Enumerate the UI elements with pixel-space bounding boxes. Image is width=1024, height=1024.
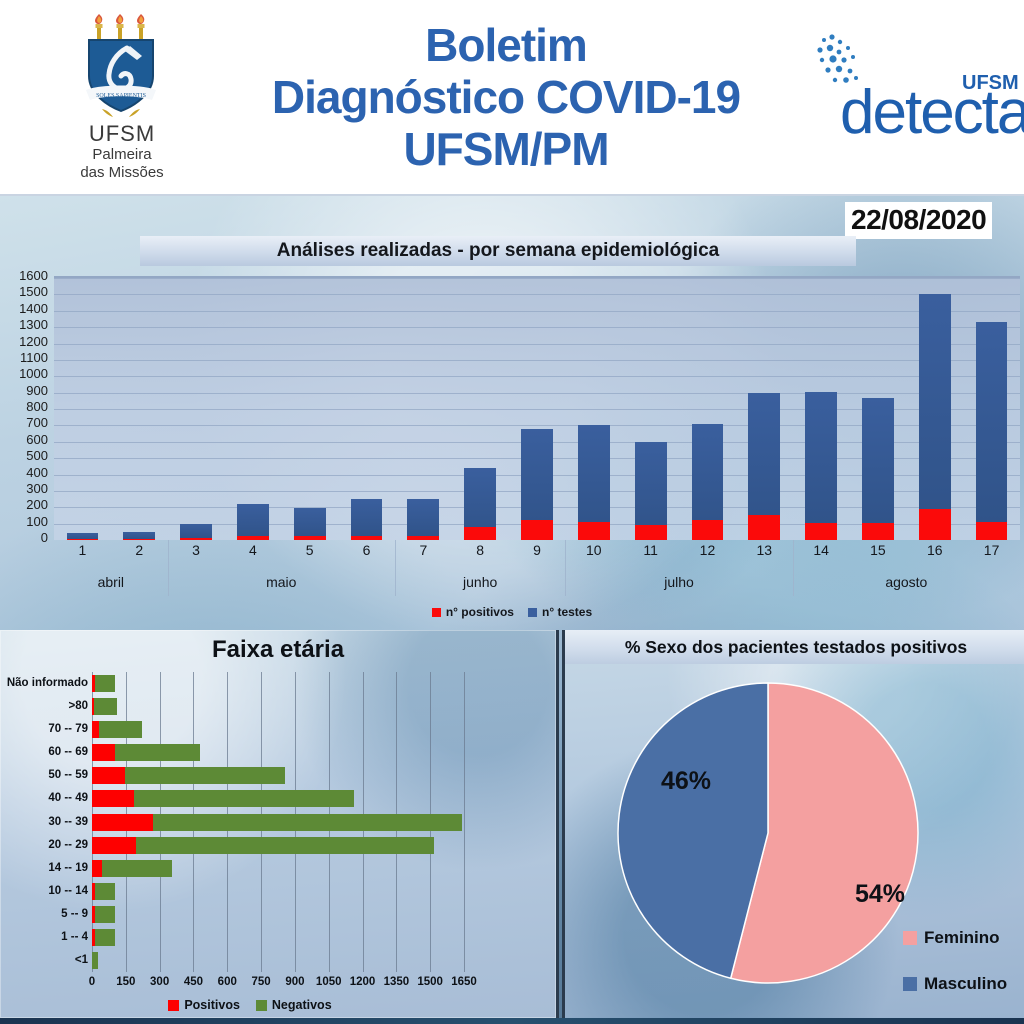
bar-segment-testes <box>805 392 837 540</box>
x-axis-tick: 5 <box>292 542 328 558</box>
y-axis-tick: 1200 <box>2 334 48 349</box>
bar-group <box>294 508 326 540</box>
weekly-chart-x-axis: 1234567891011121314151617 <box>54 542 1020 566</box>
gridline <box>54 393 1020 394</box>
bar-segment-positivos <box>976 522 1008 540</box>
weekly-chart-month-axis: abrilmaiojunhojulhoagosto <box>54 574 1020 596</box>
bar-group <box>464 468 496 540</box>
age-bar-negativos <box>125 767 285 784</box>
weekly-analyses-chart: Análises realizadas - por semana epidemi… <box>0 236 1024 628</box>
age-chart-plot-area: Não informado>8070 -- 7960 -- 6950 -- 59… <box>92 672 464 972</box>
bar-group <box>635 442 667 540</box>
bar-segment-positivos <box>635 525 667 540</box>
title-line-3: UFSM/PM <box>196 126 816 172</box>
age-category-label: 20 -- 29 <box>0 839 88 851</box>
title-line-1: Boletim <box>196 22 816 68</box>
legend-swatch-masculino <box>903 977 917 991</box>
title-line-2: Diagnóstico COVID-19 <box>196 74 816 120</box>
sex-chart-title: % Sexo dos pacientes testados positivos <box>565 630 1024 664</box>
legend-label-masculino: Masculino <box>924 974 1007 994</box>
bar-segment-positivos <box>862 523 894 540</box>
bar-segment-positivos <box>692 520 724 540</box>
age-bar-positivos <box>92 860 102 877</box>
age-bar-group <box>92 675 464 692</box>
age-category-label: <1 <box>0 954 88 966</box>
weekly-chart-legend: n° positivosn° testes <box>0 602 1024 622</box>
y-axis-tick: 1100 <box>2 350 48 365</box>
age-bar-negativos <box>95 929 115 946</box>
bar-segment-positivos <box>521 520 553 540</box>
gridline <box>54 278 1020 279</box>
bar-group <box>692 424 724 540</box>
bar-group <box>351 499 383 540</box>
legend-item: Negativos <box>256 998 332 1012</box>
age-bar-negativos <box>92 952 98 969</box>
bar-segment-testes <box>407 499 439 540</box>
pie-label-masculino: 46% <box>661 767 711 796</box>
y-axis-tick: 700 <box>2 415 48 430</box>
age-bar-group <box>92 906 464 923</box>
bar-group <box>976 322 1008 540</box>
age-chart-title: Faixa etária <box>0 636 556 664</box>
legend-swatch <box>432 608 441 617</box>
gridline <box>54 344 1020 345</box>
x-axis-tick: 9 <box>519 542 555 558</box>
bar-group <box>805 392 837 540</box>
age-bar-group <box>92 698 464 715</box>
age-bar-group <box>92 790 464 807</box>
month-separator <box>395 540 396 596</box>
x-axis-tick: 2 <box>121 542 157 558</box>
y-axis-tick: 1600 <box>2 268 48 283</box>
x-axis-tick: 13 <box>746 542 782 558</box>
infographic-page: SOLES SAPIENTIS UFSM Palmeira das Missõe… <box>0 0 1024 1024</box>
legend-item: Positivos <box>168 998 240 1012</box>
bar-segment-positivos <box>407 536 439 540</box>
age-bar-positivos <box>92 767 125 784</box>
weekly-chart-y-axis: 1600150014001300120011001000900800700600… <box>0 276 48 538</box>
y-axis-tick: 1400 <box>2 301 48 316</box>
y-axis-tick: 200 <box>2 497 48 512</box>
bar-segment-positivos <box>123 539 155 540</box>
bar-segment-testes <box>976 322 1008 540</box>
x-axis-tick: 14 <box>803 542 839 558</box>
bar-group <box>237 504 269 540</box>
ufsm-abbreviation: UFSM <box>62 122 182 146</box>
legend-swatch <box>528 608 537 617</box>
bar-segment-positivos <box>294 536 326 540</box>
x-axis-tick: 17 <box>974 542 1010 558</box>
age-bar-negativos <box>95 675 114 692</box>
age-bar-group <box>92 837 464 854</box>
ufsm-crest-icon: SOLES SAPIENTIS <box>80 10 162 122</box>
y-axis-tick: 0 <box>2 530 48 545</box>
age-bar-negativos <box>94 698 117 715</box>
month-label: maio <box>231 574 331 590</box>
x-axis-tick: 8 <box>462 542 498 558</box>
header: SOLES SAPIENTIS UFSM Palmeira das Missõe… <box>0 0 1024 196</box>
age-bar-group <box>92 929 464 946</box>
legend-label: n° testes <box>542 605 592 619</box>
gridline <box>54 311 1020 312</box>
y-axis-tick: 100 <box>2 514 48 529</box>
age-bar-negativos <box>95 883 115 900</box>
legend-item: n° testes <box>528 605 592 619</box>
month-label: junho <box>430 574 530 590</box>
age-bar-negativos <box>136 837 434 854</box>
bar-segment-positivos <box>805 523 837 540</box>
bar-group <box>180 524 212 540</box>
x-axis-tick: 15 <box>860 542 896 558</box>
age-bar-group <box>92 860 464 877</box>
ufsm-logo-text: UFSM Palmeira das Missões <box>62 122 182 182</box>
weekly-chart-plot-area <box>54 276 1020 540</box>
legend-label: Positivos <box>184 998 240 1012</box>
month-label: julho <box>629 574 729 590</box>
gridline <box>54 327 1020 328</box>
legend-swatch <box>168 1000 179 1011</box>
age-bar-negativos <box>102 860 172 877</box>
age-category-label: 5 -- 9 <box>0 908 88 920</box>
legend-swatch <box>256 1000 267 1011</box>
legend-item: n° positivos <box>432 605 514 619</box>
weekly-chart-title: Análises realizadas - por semana epidemi… <box>140 236 856 266</box>
legend-swatch-feminino <box>903 931 917 945</box>
age-category-label: 60 -- 69 <box>0 746 88 758</box>
page-title: Boletim Diagnóstico COVID-19 UFSM/PM <box>196 22 816 172</box>
age-bar-group <box>92 952 464 969</box>
age-category-label: 14 -- 19 <box>0 862 88 874</box>
month-separator <box>565 540 566 596</box>
sex-pie-chart <box>615 680 921 986</box>
x-axis-tick: 7 <box>405 542 441 558</box>
weekly-chart-title-text: Análises realizadas - por semana epidemi… <box>277 240 719 262</box>
gridline <box>464 672 465 972</box>
bar-segment-positivos <box>237 536 269 540</box>
age-category-label: 1 -- 4 <box>0 931 88 943</box>
age-bar-positivos <box>92 744 115 761</box>
y-axis-tick: 500 <box>2 448 48 463</box>
y-axis-tick: 300 <box>2 481 48 496</box>
sex-chart-title-text: % Sexo dos pacientes testados positivos <box>625 637 967 658</box>
bar-group <box>862 398 894 540</box>
bar-segment-positivos <box>180 538 212 540</box>
x-axis-tick: 3 <box>178 542 214 558</box>
x-axis-tick: 1 <box>64 542 100 558</box>
bar-segment-positivos <box>67 539 99 540</box>
gridline <box>54 376 1020 377</box>
age-category-label: 30 -- 39 <box>0 816 88 828</box>
age-chart-x-axis: 015030045060075090010501200135015001650 <box>92 976 464 994</box>
bar-group <box>748 393 780 540</box>
y-axis-tick: 400 <box>2 465 48 480</box>
y-axis-tick: 1300 <box>2 317 48 332</box>
age-bar-positivos <box>92 721 99 738</box>
age-category-label: >80 <box>0 700 88 712</box>
y-axis-tick: 600 <box>2 432 48 447</box>
x-axis-tick: 12 <box>689 542 725 558</box>
bar-group <box>123 532 155 540</box>
x-axis-tick: 6 <box>349 542 385 558</box>
age-bar-negativos <box>95 906 115 923</box>
age-bar-group <box>92 767 464 784</box>
age-bar-positivos <box>92 837 136 854</box>
age-chart-legend: PositivosNegativos <box>0 996 500 1014</box>
age-bar-group <box>92 883 464 900</box>
age-bar-positivos <box>92 790 134 807</box>
age-bar-group <box>92 721 464 738</box>
report-date: 22/08/2020 <box>845 202 992 239</box>
detecta-wordmark: detecta <box>840 82 1024 144</box>
legend-label: Negativos <box>272 998 332 1012</box>
age-category-label: 40 -- 49 <box>0 792 88 804</box>
age-category-label: 10 -- 14 <box>0 885 88 897</box>
month-separator <box>168 540 169 596</box>
bar-group <box>919 294 951 540</box>
age-bar-group <box>92 814 464 831</box>
gridline <box>54 294 1020 295</box>
y-axis-tick: 1000 <box>2 366 48 381</box>
y-axis-tick: 900 <box>2 383 48 398</box>
legend-label: n° positivos <box>446 605 514 619</box>
bar-segment-testes <box>351 499 383 540</box>
age-x-axis-tick: 1650 <box>444 976 484 988</box>
bar-group <box>521 429 553 540</box>
bar-group <box>67 533 99 540</box>
age-category-label: Não informado <box>0 677 88 689</box>
bar-segment-positivos <box>748 515 780 540</box>
legend-item-feminino: Feminino <box>903 928 1000 948</box>
month-label: abril <box>61 574 161 590</box>
legend-label-feminino: Feminino <box>924 928 1000 948</box>
age-bar-negativos <box>134 790 354 807</box>
legend-item-masculino: Masculino <box>903 974 1007 994</box>
ufsm-campus-line2: das Missões <box>62 164 182 182</box>
detecta-logo: UFSM detecta <box>806 26 1024 142</box>
age-bar-positivos <box>92 814 153 831</box>
bar-segment-positivos <box>351 536 383 540</box>
crest-motto: SOLES SAPIENTIS <box>96 93 146 99</box>
y-axis-tick: 800 <box>2 399 48 414</box>
y-axis-tick: 1500 <box>2 284 48 299</box>
x-axis-tick: 4 <box>235 542 271 558</box>
age-group-panel: Faixa etária Não informado>8070 -- 7960 … <box>0 630 559 1021</box>
x-axis-tick: 10 <box>576 542 612 558</box>
month-label: agosto <box>856 574 956 590</box>
bar-segment-testes <box>862 398 894 540</box>
age-category-label: 70 -- 79 <box>0 723 88 735</box>
x-axis-tick: 16 <box>917 542 953 558</box>
age-category-label: 50 -- 59 <box>0 769 88 781</box>
footer-strip <box>0 1018 1024 1024</box>
age-bar-negativos <box>115 744 201 761</box>
ufsm-campus-line1: Palmeira <box>62 146 182 164</box>
bar-segment-positivos <box>464 527 496 540</box>
age-bar-negativos <box>153 814 462 831</box>
x-axis-tick: 11 <box>633 542 669 558</box>
bar-group <box>407 499 439 540</box>
bar-segment-positivos <box>578 522 610 540</box>
pie-label-feminino: 54% <box>855 880 905 909</box>
age-bar-negativos <box>99 721 142 738</box>
bar-segment-testes <box>919 294 951 540</box>
ufsm-logo: SOLES SAPIENTIS UFSM Palmeira das Missõe… <box>62 6 182 186</box>
bar-group <box>578 425 610 540</box>
bar-segment-testes <box>237 504 269 540</box>
bar-segment-positivos <box>919 509 951 540</box>
sex-distribution-panel: % Sexo dos pacientes testados positivos … <box>562 630 1024 1021</box>
month-separator <box>793 540 794 596</box>
gridline <box>54 360 1020 361</box>
age-bar-group <box>92 744 464 761</box>
